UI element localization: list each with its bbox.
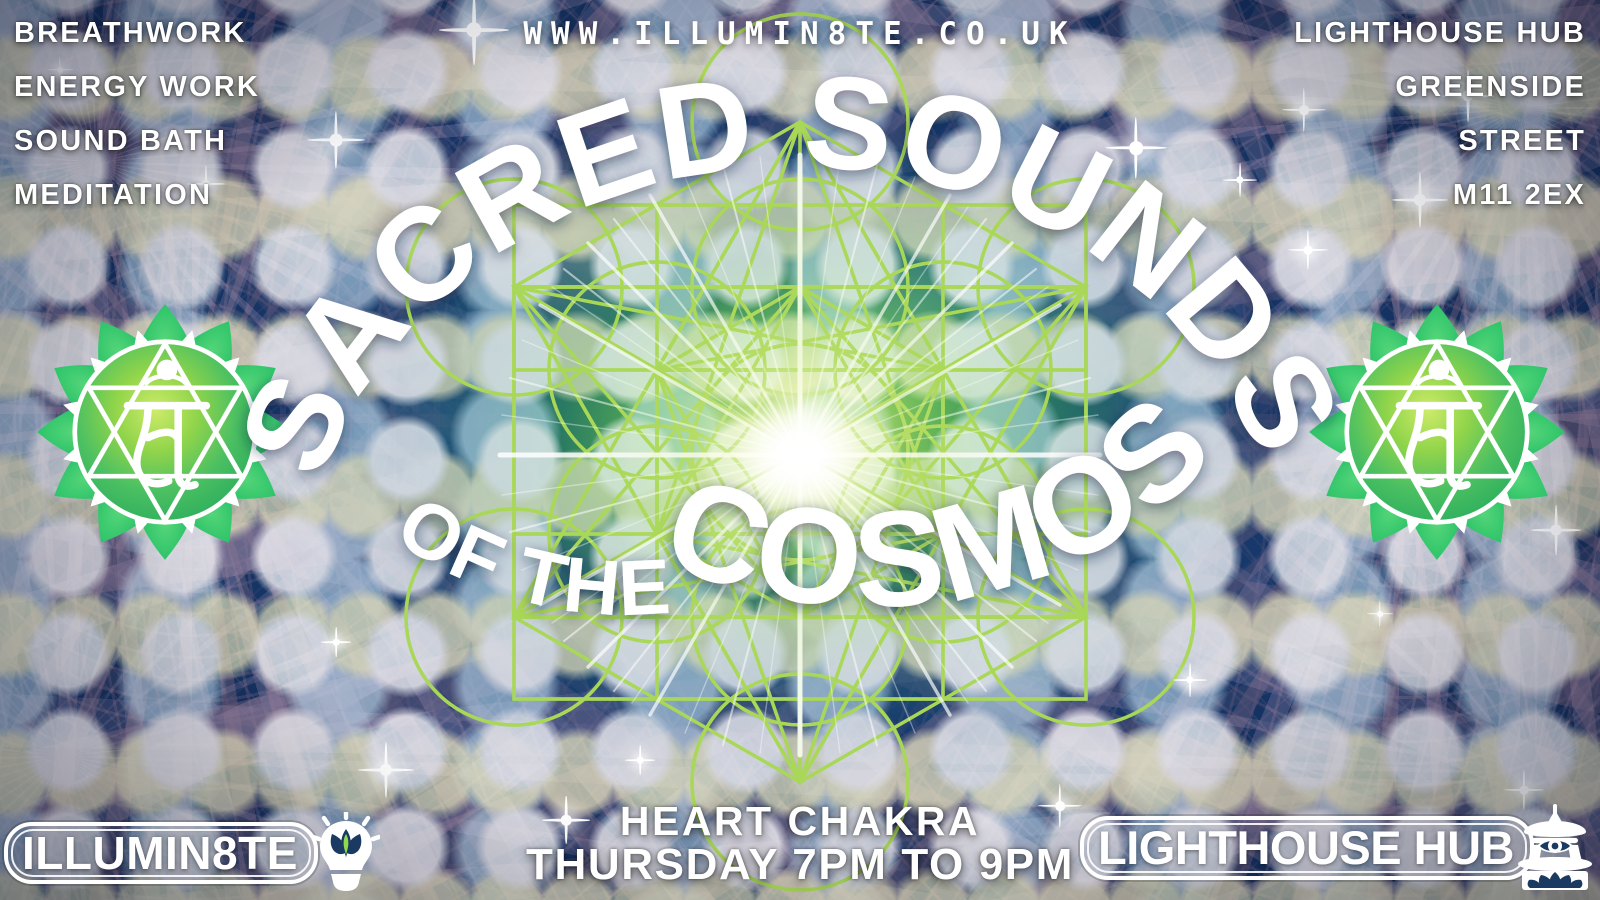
venue-line: M11 2EX (1294, 168, 1586, 222)
venue-line: GREENSIDE (1294, 60, 1586, 114)
lighthouse-hub-logo[interactable]: LIGHTHOUSE HUB (1080, 802, 1600, 894)
lighthouse-eye-lotus-icon (1508, 802, 1600, 894)
event-schedule: THURSDAY 7PM TO 9PM (526, 840, 1074, 890)
venue-line: STREET (1294, 114, 1586, 168)
event-poster: SACRED SOUNDS OF THE COSMOS WWW.ILLUMIN8… (0, 0, 1600, 900)
venue-line: LIGHTHOUSE HUB (1294, 6, 1586, 60)
title-sacred-sounds: SACRED SOUNDS (210, 46, 1371, 494)
website-url[interactable]: WWW.ILLUMIN8TE.CO.UK (523, 16, 1076, 52)
event-chakra-label: HEART CHAKRA (620, 798, 980, 845)
lighthouse-hub-logo-plate: LIGHTHOUSE HUB (1080, 816, 1534, 880)
venue-address: LIGHTHOUSE HUB GREENSIDE STREET M11 2EX (1294, 6, 1586, 222)
title-of-the: OF THE (383, 479, 675, 633)
lighthouse-hub-wordmark: LIGHTHOUSE HUB (1098, 824, 1514, 872)
service-item: SOUND BATH (14, 114, 260, 168)
service-item: ENERGY WORK (14, 60, 260, 114)
illumin8te-logo-plate: ILLUMIN8TE (4, 822, 318, 885)
service-item: BREATHWORK (14, 6, 260, 60)
services-list: BREATHWORK ENERGY WORK SOUND BATH MEDITA… (14, 6, 260, 222)
title-cosmos: COSMOS (647, 366, 1239, 638)
lightbulb-leaf-icon (302, 812, 380, 894)
illumin8te-wordmark: ILLUMIN8TE (22, 830, 298, 877)
illumin8te-logo[interactable]: ILLUMIN8TE (4, 812, 380, 894)
service-item: MEDITATION (14, 168, 260, 222)
